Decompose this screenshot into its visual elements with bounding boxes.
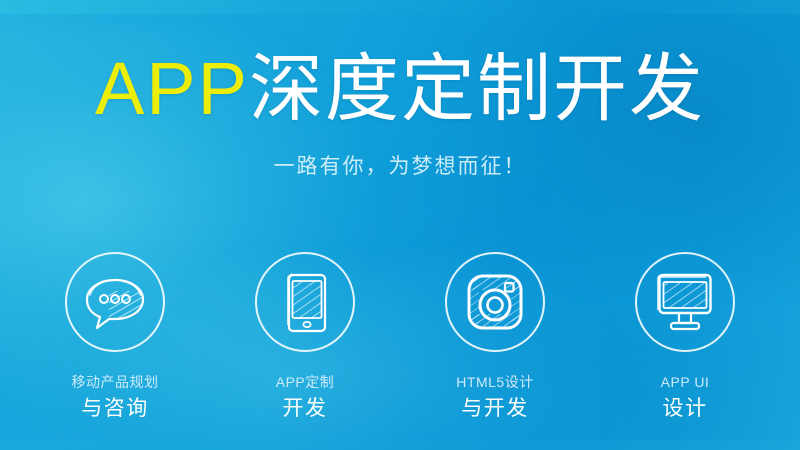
monitor-icon <box>649 270 721 334</box>
feature-item-app-development[interactable]: APP定制 开发 <box>214 252 396 419</box>
subtitle: 一路有你，为梦想而征！ <box>0 150 800 180</box>
promo-banner: APP深度定制开发 一路有你，为梦想而征！ <box>0 0 800 450</box>
feature-label-top: APP定制 <box>276 375 335 389</box>
icon-circle-html5 <box>445 252 545 352</box>
feature-label-main: 设计 <box>661 398 710 419</box>
feature-label-top: 移动产品规划 <box>72 375 159 389</box>
tablet-device-icon <box>275 266 335 338</box>
background-top-strip <box>0 0 800 14</box>
headline: APP深度定制开发 <box>0 52 800 126</box>
chat-bubble-icon <box>79 271 151 333</box>
feature-label-main: 与开发 <box>456 398 533 419</box>
background-bottom-strip <box>0 440 800 450</box>
icon-circle-app-development <box>255 252 355 352</box>
feature-label-top: APP UI <box>661 375 710 389</box>
feature-labels-html5: HTML5设计 与开发 <box>456 375 533 419</box>
feature-item-html5[interactable]: HTML5设计 与开发 <box>404 252 586 419</box>
background-shade-right <box>432 0 800 288</box>
feature-label-main: 与咨询 <box>72 398 159 419</box>
feature-labels-app-ui: APP UI 设计 <box>661 375 710 419</box>
camera-icon <box>461 268 529 336</box>
headline-latin: APP <box>95 47 249 130</box>
feature-labels-consulting: 移动产品规划 与咨询 <box>72 375 159 419</box>
icon-circle-app-ui <box>635 252 735 352</box>
feature-label-main: 开发 <box>276 398 335 419</box>
feature-labels-app-development: APP定制 开发 <box>276 375 335 419</box>
feature-item-app-ui[interactable]: APP UI 设计 <box>594 252 776 419</box>
icon-circle-consulting <box>65 252 165 352</box>
feature-list: 移动产品规划 与咨询 <box>0 252 800 419</box>
headline-cjk: 深度定制开发 <box>249 47 705 130</box>
feature-label-top: HTML5设计 <box>456 375 533 389</box>
feature-item-consulting[interactable]: 移动产品规划 与咨询 <box>24 252 206 419</box>
